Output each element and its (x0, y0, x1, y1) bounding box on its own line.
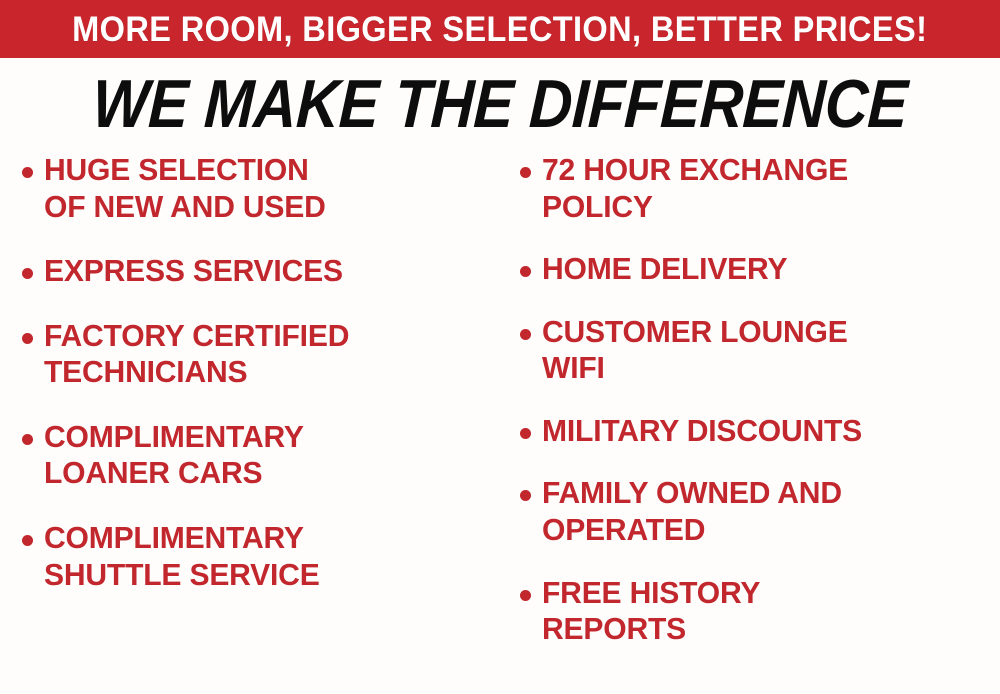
bullet-dot-icon (520, 329, 531, 340)
page-title: WE MAKE THE DIFFERENCE (91, 70, 909, 138)
list-item-label: MILITARY DISCOUNTS (542, 413, 862, 450)
bullet-dot-icon (520, 428, 531, 439)
headline-container: WE MAKE THE DIFFERENCE (0, 64, 1000, 144)
list-item-label: EXPRESS SERVICES (44, 253, 343, 290)
bullet-dot-icon (520, 590, 531, 601)
banner-headline-text: MORE ROOM, BIGGER SELECTION, BETTER PRIC… (72, 12, 927, 47)
list-item-label: HUGE SELECTION OF NEW AND USED (44, 152, 326, 225)
benefits-column-left: HUGE SELECTION OF NEW AND USED EXPRESS S… (0, 152, 500, 694)
list-item-label: COMPLIMENTARY LOANER CARS (44, 419, 304, 492)
list-item: FACTORY CERTIFIED TECHNICIANS (22, 318, 494, 391)
bullet-dot-icon (520, 490, 531, 501)
list-item-label: CUSTOMER LOUNGE WIFI (542, 314, 848, 387)
list-item: HOME DELIVERY (520, 251, 998, 288)
bullet-dot-icon (22, 268, 33, 279)
list-item-label: FACTORY CERTIFIED TECHNICIANS (44, 318, 349, 391)
bullet-dot-icon (520, 167, 531, 178)
list-item: EXPRESS SERVICES (22, 253, 494, 290)
list-item: COMPLIMENTARY LOANER CARS (22, 419, 494, 492)
list-item-label: COMPLIMENTARY SHUTTLE SERVICE (44, 520, 320, 593)
list-item-label: FAMILY OWNED AND OPERATED (542, 475, 842, 548)
bullet-dot-icon (22, 434, 33, 445)
list-item: FREE HISTORY REPORTS (520, 575, 998, 648)
list-item: CUSTOMER LOUNGE WIFI (520, 314, 998, 387)
list-item: HUGE SELECTION OF NEW AND USED (22, 152, 494, 225)
benefits-columns: HUGE SELECTION OF NEW AND USED EXPRESS S… (0, 152, 1000, 694)
list-item: COMPLIMENTARY SHUTTLE SERVICE (22, 520, 494, 593)
bullet-dot-icon (520, 266, 531, 277)
list-item-label: FREE HISTORY REPORTS (542, 575, 760, 648)
top-banner: MORE ROOM, BIGGER SELECTION, BETTER PRIC… (0, 0, 1000, 58)
list-item: MILITARY DISCOUNTS (520, 413, 998, 450)
bullet-dot-icon (22, 333, 33, 344)
list-item-label: HOME DELIVERY (542, 251, 787, 288)
benefits-column-right: 72 HOUR EXCHANGE POLICY HOME DELIVERY CU… (500, 152, 1000, 694)
list-item: FAMILY OWNED AND OPERATED (520, 475, 998, 548)
list-item-label: 72 HOUR EXCHANGE POLICY (542, 152, 848, 225)
bullet-dot-icon (22, 167, 33, 178)
list-item: 72 HOUR EXCHANGE POLICY (520, 152, 998, 225)
promo-poster: MORE ROOM, BIGGER SELECTION, BETTER PRIC… (0, 0, 1000, 694)
bullet-dot-icon (22, 535, 33, 546)
